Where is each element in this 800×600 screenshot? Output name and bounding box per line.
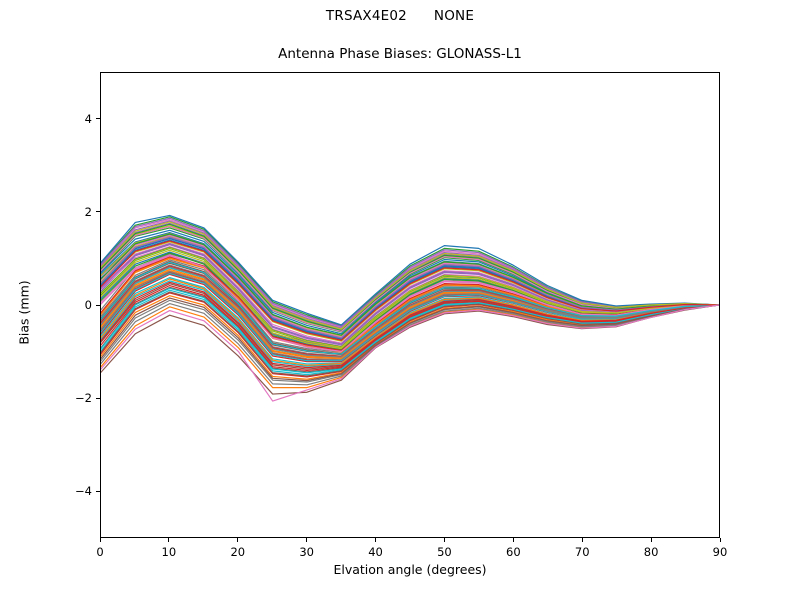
x-tick-mark — [444, 538, 445, 542]
x-tick-label: 0 — [96, 545, 103, 559]
x-tick-mark — [582, 538, 583, 542]
x-tick-label: 10 — [162, 545, 177, 559]
figure-suptitle: TRSAX4E02 NONE — [0, 8, 800, 24]
y-tick-label: 0 — [54, 298, 92, 312]
x-tick-label: 60 — [506, 545, 521, 559]
y-tick-mark — [96, 398, 100, 399]
x-tick-mark — [237, 538, 238, 542]
x-tick-label: 50 — [437, 545, 452, 559]
y-tick-mark — [96, 211, 100, 212]
y-tick-mark — [96, 118, 100, 119]
x-tick-mark — [720, 538, 721, 542]
x-tick-mark — [513, 538, 514, 542]
y-tick-label: 2 — [54, 205, 92, 219]
y-axis-label: Bias (mm) — [17, 253, 32, 373]
x-tick-label: 90 — [713, 545, 728, 559]
y-tick-mark — [96, 491, 100, 492]
plot-area — [100, 72, 720, 538]
x-tick-mark — [651, 538, 652, 542]
x-tick-label: 40 — [368, 545, 383, 559]
x-tick-mark — [168, 538, 169, 542]
x-tick-label: 20 — [230, 545, 245, 559]
x-tick-mark — [100, 538, 101, 542]
x-axis-label: Elvation angle (degrees) — [100, 562, 720, 577]
chart-title: Antenna Phase Biases: GLONASS-L1 — [0, 46, 800, 62]
x-tick-label: 70 — [575, 545, 590, 559]
x-tick-label: 30 — [299, 545, 314, 559]
x-tick-mark — [306, 538, 307, 542]
y-tick-mark — [96, 305, 100, 306]
figure-canvas: TRSAX4E02 NONE Antenna Phase Biases: GLO… — [0, 0, 800, 600]
y-tick-label: 4 — [54, 112, 92, 126]
y-tick-label: −4 — [54, 484, 92, 498]
series-lines — [101, 73, 719, 537]
x-tick-mark — [375, 538, 376, 542]
y-tick-label: −2 — [54, 391, 92, 405]
x-tick-label: 80 — [644, 545, 659, 559]
